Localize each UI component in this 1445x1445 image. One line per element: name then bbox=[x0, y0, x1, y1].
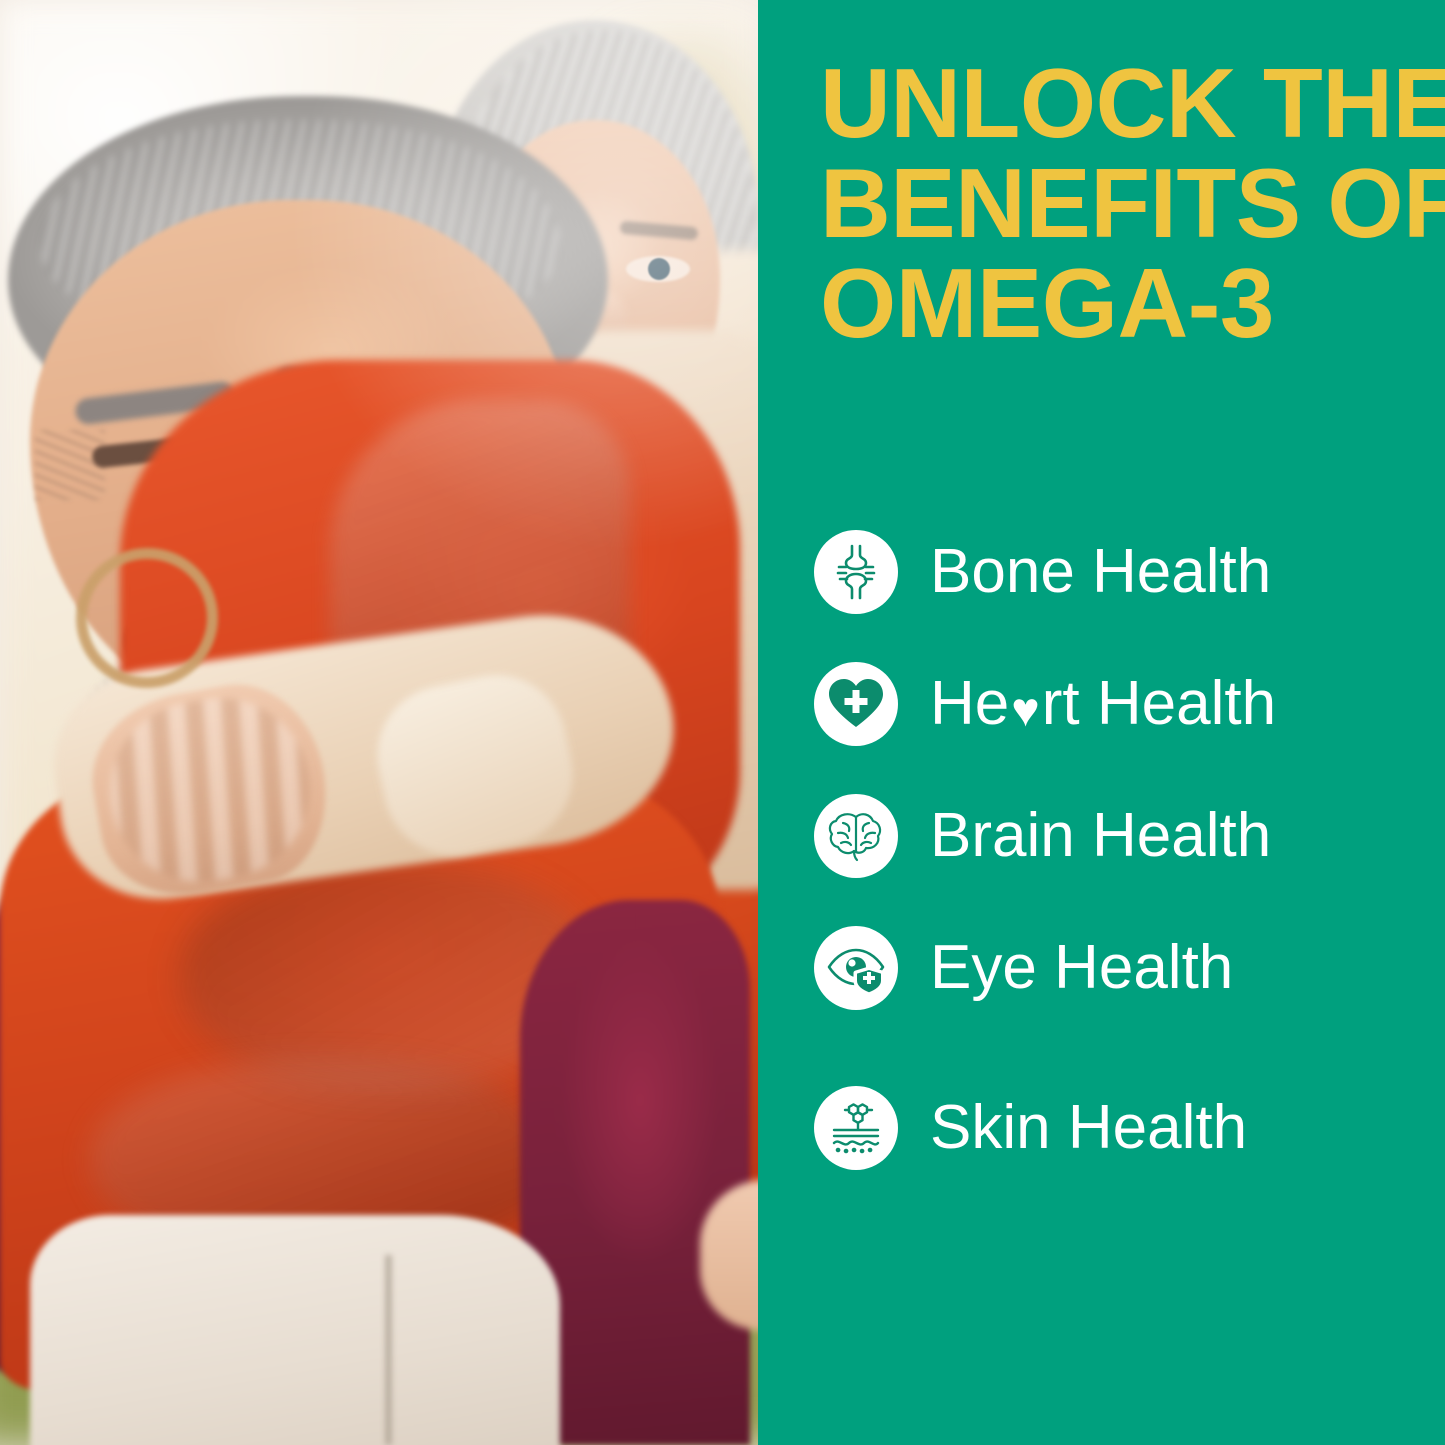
benefit-label-heart: He♥rt Health bbox=[930, 673, 1276, 735]
heart-label-after: rt Health bbox=[1042, 669, 1276, 738]
omega3-benefits-banner: UNLOCK THE BENEFITS OF OMEGA-3 bbox=[0, 0, 1445, 1445]
benefit-item-heart: He♥rt Health bbox=[814, 638, 1434, 770]
man-trouser-seam bbox=[385, 1255, 392, 1445]
heart-label-before: He bbox=[930, 669, 1009, 738]
eye-shield-icon bbox=[814, 926, 898, 1010]
benefits-panel: UNLOCK THE BENEFITS OF OMEGA-3 bbox=[758, 0, 1445, 1445]
benefit-label-bone: Bone Health bbox=[930, 541, 1271, 603]
headline-line-1: UNLOCK THE bbox=[820, 54, 1420, 154]
man-smile-lines-left bbox=[35, 430, 105, 500]
man-trousers bbox=[30, 1215, 560, 1445]
headline-line-3: OMEGA-3 bbox=[820, 254, 1420, 354]
benefits-list: Bone Health He♥rt Health bbox=[814, 506, 1434, 1194]
bone-joint-icon bbox=[814, 530, 898, 614]
benefit-label-skin: Skin Health bbox=[930, 1097, 1247, 1159]
headline-line-2: BENEFITS OF bbox=[820, 154, 1420, 254]
heart-plus-icon bbox=[814, 662, 898, 746]
brain-icon bbox=[814, 794, 898, 878]
heart-glyph-icon: ♥ bbox=[1009, 687, 1042, 735]
benefit-label-eye: Eye Health bbox=[930, 937, 1233, 999]
headline: UNLOCK THE BENEFITS OF OMEGA-3 bbox=[820, 54, 1420, 354]
benefit-item-skin: Skin Health bbox=[814, 1062, 1434, 1194]
benefit-item-brain: Brain Health bbox=[814, 770, 1434, 902]
woman-pupil-right bbox=[648, 258, 670, 280]
benefit-label-brain: Brain Health bbox=[930, 805, 1271, 867]
skin-layers-icon bbox=[814, 1086, 898, 1170]
benefit-item-bone: Bone Health bbox=[814, 506, 1434, 638]
lifestyle-photo bbox=[0, 0, 758, 1445]
benefit-item-eye: Eye Health bbox=[814, 902, 1434, 1034]
